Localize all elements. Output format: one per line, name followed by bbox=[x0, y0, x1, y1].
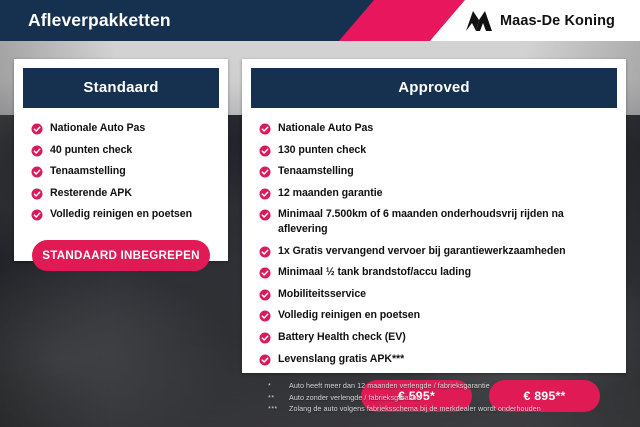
list-item-label: Tenaamstelling bbox=[278, 164, 354, 179]
footnote-marker: ** bbox=[268, 393, 285, 403]
footnote-text: Zolang de auto volgens fabrieksschema bi… bbox=[289, 404, 628, 414]
list-item-label: 12 maanden garantie bbox=[278, 186, 382, 201]
brand-name: Maas-De Koning bbox=[500, 13, 615, 29]
list-item-label: Volledig reinigen en poetsen bbox=[50, 207, 192, 222]
standaard-inbegrepen-button[interactable]: STANDAARD INBEGREPEN bbox=[32, 240, 210, 271]
list-item: 40 punten check bbox=[31, 143, 213, 158]
list-item: 12 maanden garantie bbox=[259, 186, 611, 201]
check-circle-icon bbox=[259, 354, 271, 366]
check-circle-icon bbox=[259, 188, 271, 200]
list-item: Levenslang gratis APK*** bbox=[259, 352, 611, 367]
approved-card-heading: Approved bbox=[251, 68, 617, 108]
list-item: Minimaal 7.500km of 6 maanden onderhouds… bbox=[259, 207, 611, 236]
page-title: Afleverpakketten bbox=[28, 0, 171, 41]
list-item-label: Levenslang gratis APK*** bbox=[278, 352, 404, 367]
afleverpakketten-promo-page: Afleverpakketten Maas-De Koning Standaar… bbox=[0, 0, 640, 427]
list-item-label: 1x Gratis vervangend vervoer bij garanti… bbox=[278, 244, 566, 259]
list-item: Nationale Auto Pas bbox=[31, 121, 213, 136]
list-item: Nationale Auto Pas bbox=[259, 121, 611, 136]
package-card-approved: Approved Nationale Auto Pas 130 punten c… bbox=[242, 59, 626, 373]
check-circle-icon bbox=[259, 289, 271, 301]
list-item: Resterende APK bbox=[31, 186, 213, 201]
list-item-label: Tenaamstelling bbox=[50, 164, 126, 179]
list-item-label: 130 punten check bbox=[278, 143, 366, 158]
check-circle-icon bbox=[31, 123, 43, 135]
footnote-single-asterisk: * Auto heeft meer dan 12 maanden verleng… bbox=[268, 381, 628, 391]
standaard-card-inner: Standaard Nationale Auto Pas 40 punten c… bbox=[14, 59, 228, 285]
list-item-label: Resterende APK bbox=[50, 186, 132, 201]
check-circle-icon bbox=[259, 310, 271, 322]
check-circle-icon bbox=[259, 246, 271, 258]
list-item-label: 40 punten check bbox=[50, 143, 132, 158]
check-circle-icon bbox=[259, 267, 271, 279]
list-item: Battery Health check (EV) bbox=[259, 330, 611, 345]
check-circle-icon bbox=[31, 166, 43, 178]
check-circle-icon bbox=[31, 188, 43, 200]
footnote-marker: * bbox=[268, 381, 285, 391]
footnote-text: Auto heeft meer dan 12 maanden verlengde… bbox=[289, 381, 628, 391]
list-item: Tenaamstelling bbox=[31, 164, 213, 179]
brand-logo: Maas-De Koning bbox=[466, 0, 615, 41]
list-item: 1x Gratis vervangend vervoer bij garanti… bbox=[259, 244, 611, 259]
list-item-label: Nationale Auto Pas bbox=[278, 121, 373, 136]
standaard-button-row: STANDAARD INBEGREPEN bbox=[23, 222, 219, 285]
page-header: Afleverpakketten Maas-De Koning bbox=[0, 0, 640, 41]
standaard-feature-list: Nationale Auto Pas 40 punten check Tenaa… bbox=[23, 108, 219, 222]
list-item: 130 punten check bbox=[259, 143, 611, 158]
check-circle-icon bbox=[259, 145, 271, 157]
list-item: Tenaamstelling bbox=[259, 164, 611, 179]
list-item-label: Minimaal 7.500km of 6 maanden onderhouds… bbox=[278, 207, 611, 236]
footnote-text: Auto zonder verlengde / fabrieksgarantie bbox=[289, 393, 628, 403]
check-circle-icon bbox=[259, 332, 271, 344]
list-item-label: Minimaal ½ tank brandstof/accu lading bbox=[278, 265, 471, 280]
list-item: Minimaal ½ tank brandstof/accu lading bbox=[259, 265, 611, 280]
list-item-label: Mobiliteitsservice bbox=[278, 287, 366, 302]
check-circle-icon bbox=[259, 209, 271, 221]
maas-de-koning-m-mark-icon bbox=[466, 11, 492, 31]
footnote-triple-asterisk: *** Zolang de auto volgens fabrieksschem… bbox=[268, 404, 628, 414]
list-item-label: Battery Health check (EV) bbox=[278, 330, 406, 345]
list-item-label: Volledig reinigen en poetsen bbox=[278, 308, 420, 323]
footnotes: * Auto heeft meer dan 12 maanden verleng… bbox=[268, 381, 628, 416]
check-circle-icon bbox=[31, 145, 43, 157]
check-circle-icon bbox=[31, 209, 43, 221]
footnote-marker: *** bbox=[268, 404, 285, 414]
check-circle-icon bbox=[259, 166, 271, 178]
footnote-double-asterisk: ** Auto zonder verlengde / fabrieksgaran… bbox=[268, 393, 628, 403]
approved-card-inner: Approved Nationale Auto Pas 130 punten c… bbox=[242, 59, 626, 412]
check-circle-icon bbox=[259, 123, 271, 135]
approved-feature-list: Nationale Auto Pas 130 punten check Tena… bbox=[251, 108, 617, 366]
list-item: Mobiliteitsservice bbox=[259, 287, 611, 302]
list-item: Volledig reinigen en poetsen bbox=[259, 308, 611, 323]
list-item: Volledig reinigen en poetsen bbox=[31, 207, 213, 222]
standaard-card-heading: Standaard bbox=[23, 68, 219, 108]
list-item-label: Nationale Auto Pas bbox=[50, 121, 145, 136]
package-card-standaard: Standaard Nationale Auto Pas 40 punten c… bbox=[14, 59, 228, 261]
